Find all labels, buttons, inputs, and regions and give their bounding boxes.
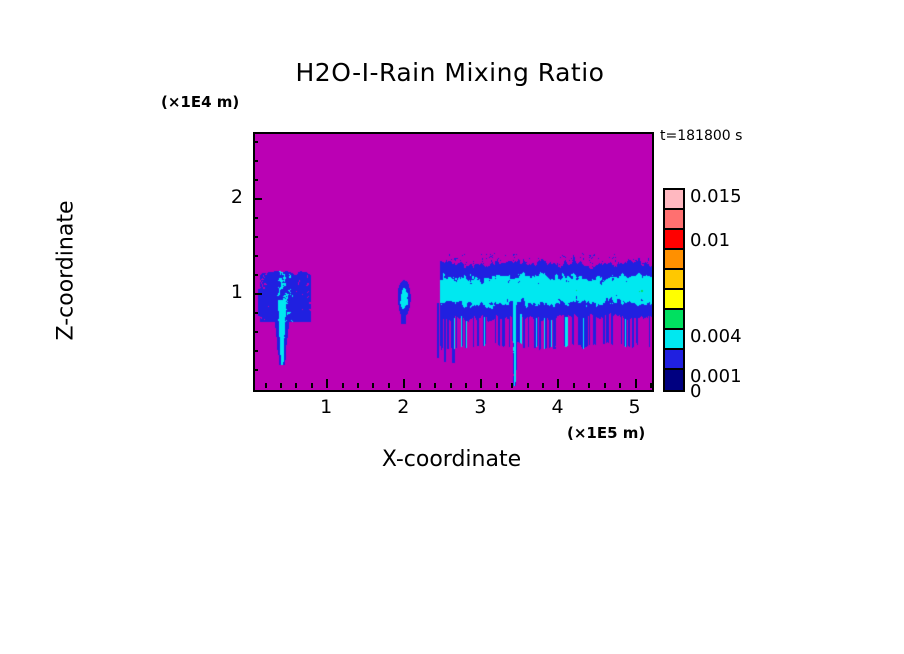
y-tick-minor xyxy=(253,255,258,257)
colorbar-band xyxy=(665,370,683,390)
y-tick-major xyxy=(253,198,262,200)
x-tick-major xyxy=(635,379,637,388)
y-tick-minor xyxy=(253,141,258,143)
colorbar-band xyxy=(665,230,683,250)
y-tick-minor xyxy=(253,331,258,333)
x-tick-label: 2 xyxy=(383,396,423,418)
page-title: H2O-I-Rain Mixing Ratio xyxy=(0,58,904,87)
x-tick-minor xyxy=(265,383,267,388)
x-tick-minor xyxy=(619,383,621,388)
x-tick-label: 1 xyxy=(306,396,346,418)
x-tick-minor xyxy=(434,383,436,388)
y-tick-minor xyxy=(253,236,258,238)
x-tick-minor xyxy=(295,383,297,388)
x-tick-minor xyxy=(311,383,313,388)
x-tick-minor xyxy=(357,383,359,388)
x-tick-minor xyxy=(419,383,421,388)
x-tick-major xyxy=(326,379,328,388)
x-axis-unit-label: (×1E5 m) xyxy=(567,424,645,442)
y-tick-minor xyxy=(253,350,258,352)
x-tick-minor xyxy=(496,383,498,388)
x-tick-minor xyxy=(465,383,467,388)
x-tick-minor xyxy=(342,383,344,388)
colorbar-band xyxy=(665,250,683,270)
colorbar-band xyxy=(665,330,683,350)
x-tick-minor xyxy=(527,383,529,388)
x-tick-minor xyxy=(542,383,544,388)
colorbar-tick-label: 0.004 xyxy=(690,326,742,347)
y-tick-minor xyxy=(253,312,258,314)
colorbar-band xyxy=(665,350,683,370)
colorbar-tick-label: 0 xyxy=(690,381,701,402)
y-tick-minor xyxy=(253,179,258,181)
x-tick-label: 4 xyxy=(537,396,577,418)
x-tick-minor xyxy=(588,383,590,388)
x-tick-major xyxy=(557,379,559,388)
colorbar-band xyxy=(665,210,683,230)
colorbar-band xyxy=(665,270,683,290)
colorbar-band xyxy=(665,310,683,330)
x-tick-minor xyxy=(280,383,282,388)
plot-area xyxy=(253,132,654,392)
x-tick-minor xyxy=(573,383,575,388)
y-tick-minor xyxy=(253,217,258,219)
y-axis-unit-label: (×1E4 m) xyxy=(161,93,239,111)
x-tick-minor xyxy=(450,383,452,388)
x-tick-minor xyxy=(650,383,652,388)
x-tick-label: 3 xyxy=(460,396,500,418)
x-axis-title: X-coordinate xyxy=(253,447,650,472)
colorbar-tick-label: 0.015 xyxy=(690,186,742,207)
x-tick-minor xyxy=(388,383,390,388)
y-tick-minor xyxy=(253,369,258,371)
x-tick-minor xyxy=(604,383,606,388)
colorbar-band xyxy=(665,290,683,310)
x-tick-minor xyxy=(511,383,513,388)
time-annotation: t=181800 s xyxy=(660,128,742,144)
x-tick-major xyxy=(480,379,482,388)
page-title-text: H2O-I-Rain Mixing Ratio xyxy=(296,58,605,87)
x-tick-minor xyxy=(372,383,374,388)
colorbar xyxy=(663,188,685,392)
x-tick-label: 5 xyxy=(615,396,655,418)
y-axis-title: Z-coordinate xyxy=(54,141,79,401)
y-tick-label: 1 xyxy=(213,281,243,303)
heatmap-canvas xyxy=(255,134,652,390)
y-tick-label: 2 xyxy=(213,186,243,208)
y-tick-minor xyxy=(253,274,258,276)
colorbar-tick-label: 0.01 xyxy=(690,230,730,251)
x-tick-major xyxy=(403,379,405,388)
y-tick-major xyxy=(253,293,262,295)
colorbar-band xyxy=(665,190,683,210)
y-tick-minor xyxy=(253,160,258,162)
